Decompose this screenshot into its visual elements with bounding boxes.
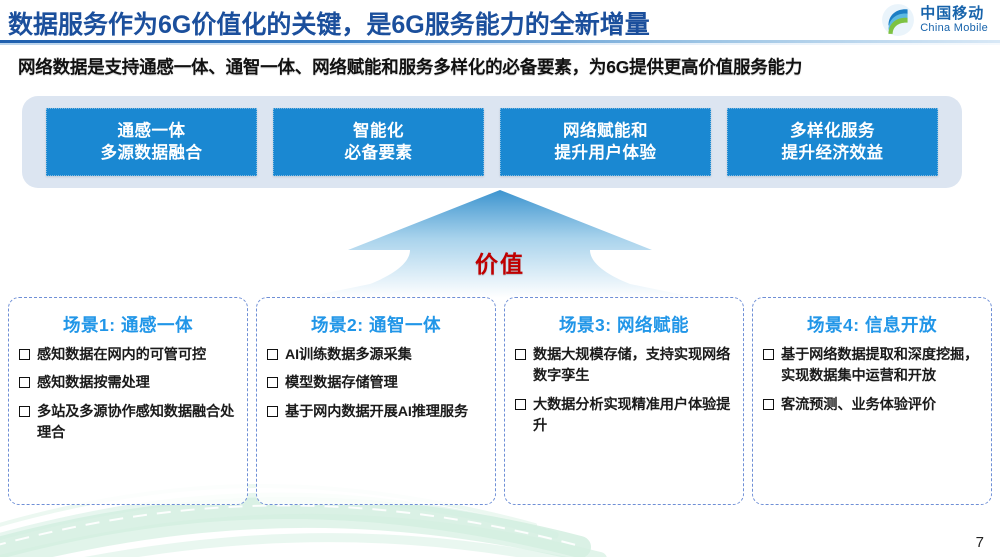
scenario-4-bullets: 基于网络数据提取和深度挖掘，实现数据集中运营和开放 客流预测、业务体验评价 [763,345,981,416]
scenario-2-bullets: AI训练数据多源采集 模型数据存储管理 基于网内数据开展AI推理服务 [267,345,485,423]
scenario-cards: 场景1: 通感一体 感知数据在网内的可管可控 感知数据按需处理 多站及多源协作感… [8,297,992,505]
checkbox-square-icon [19,406,30,417]
bullet-text: 客流预测、业务体验评价 [781,395,981,416]
brand-logo: 中国移动 China Mobile [881,3,988,37]
list-item: 感知数据在网内的可管可控 [19,345,237,366]
up-arrow-icon [300,188,700,298]
pillar-3-line2: 提升用户体验 [555,142,657,164]
pillar-2-line1: 智能化 [353,120,404,142]
slide-subtitle: 网络数据是支持通感一体、通智一体、网络赋能和服务多样化的必备要素，为6G提供更高… [18,54,988,79]
pillars-panel: 通感一体 多源数据融合 智能化 必备要素 网络赋能和 提升用户体验 多样化服务 … [22,96,962,188]
bullet-text: 基于网内数据开展AI推理服务 [285,402,485,423]
logo-title-cn: 中国移动 [920,6,988,21]
list-item: 感知数据按需处理 [19,373,237,394]
list-item: 数据大规模存储，支持实现网络数字孪生 [515,345,733,388]
pillar-1-line1: 通感一体 [118,120,186,142]
slide-root: 数据服务作为6G价值化的关键，是6G服务能力的全新增量 中国移动 China M… [0,0,1000,557]
pillar-card-3[interactable]: 网络赋能和 提升用户体验 [500,108,711,176]
scenario-3-title: 场景3: 网络赋能 [515,312,733,337]
scenario-4-title: 场景4: 信息开放 [763,312,981,337]
checkbox-square-icon [267,377,278,388]
bullet-text: 大数据分析实现精准用户体验提升 [533,395,733,438]
list-item: 基于网内数据开展AI推理服务 [267,402,485,423]
scenario-1-title: 场景1: 通感一体 [19,312,237,337]
pillar-card-1[interactable]: 通感一体 多源数据融合 [46,108,257,176]
list-item: 大数据分析实现精准用户体验提升 [515,395,733,438]
scenario-3-bullets: 数据大规模存储，支持实现网络数字孪生 大数据分析实现精准用户体验提升 [515,345,733,437]
title-divider-secondary [0,43,1000,45]
page-title: 数据服务作为6G价值化的关键，是6G服务能力的全新增量 [8,5,650,41]
checkbox-square-icon [515,349,526,360]
pillar-2-line2: 必备要素 [345,142,413,164]
china-mobile-logo-icon [881,3,915,37]
pillar-1-line2: 多源数据融合 [101,142,203,164]
scenario-2-title: 场景2: 通智一体 [267,312,485,337]
pillar-card-4[interactable]: 多样化服务 提升经济效益 [727,108,938,176]
pillar-3-line1: 网络赋能和 [563,120,648,142]
scenario-card-1[interactable]: 场景1: 通感一体 感知数据在网内的可管可控 感知数据按需处理 多站及多源协作感… [8,297,248,505]
checkbox-square-icon [763,399,774,410]
bullet-text: AI训练数据多源采集 [285,345,485,366]
list-item: 多站及多源协作感知数据融合处理合 [19,402,237,445]
checkbox-square-icon [763,349,774,360]
slide-header: 数据服务作为6G价值化的关键，是6G服务能力的全新增量 中国移动 China M… [0,0,1000,46]
scenario-card-3[interactable]: 场景3: 网络赋能 数据大规模存储，支持实现网络数字孪生 大数据分析实现精准用户… [504,297,744,505]
logo-text-block: 中国移动 China Mobile [920,6,988,34]
bullet-text: 模型数据存储管理 [285,373,485,394]
checkbox-square-icon [267,349,278,360]
bullet-text: 基于网络数据提取和深度挖掘，实现数据集中运营和开放 [781,345,981,388]
bullet-text: 感知数据在网内的可管可控 [37,345,237,366]
list-item: AI训练数据多源采集 [267,345,485,366]
pillar-4-line2: 提升经济效益 [782,142,884,164]
scenario-1-bullets: 感知数据在网内的可管可控 感知数据按需处理 多站及多源协作感知数据融合处理合 [19,345,237,444]
checkbox-square-icon [19,349,30,360]
pillar-4-line1: 多样化服务 [790,120,875,142]
list-item: 基于网络数据提取和深度挖掘，实现数据集中运营和开放 [763,345,981,388]
page-number: 7 [976,534,984,551]
bullet-text: 多站及多源协作感知数据融合处理合 [37,402,237,445]
list-item: 客流预测、业务体验评价 [763,395,981,416]
scenario-card-2[interactable]: 场景2: 通智一体 AI训练数据多源采集 模型数据存储管理 基于网内数据开展AI… [256,297,496,505]
pillar-card-2[interactable]: 智能化 必备要素 [273,108,484,176]
bullet-text: 数据大规模存储，支持实现网络数字孪生 [533,345,733,388]
value-label: 价值 [0,245,1000,279]
checkbox-square-icon [267,406,278,417]
checkbox-square-icon [19,377,30,388]
scenario-card-4[interactable]: 场景4: 信息开放 基于网络数据提取和深度挖掘，实现数据集中运营和开放 客流预测… [752,297,992,505]
checkbox-square-icon [515,399,526,410]
list-item: 模型数据存储管理 [267,373,485,394]
value-arrow-container [300,188,700,298]
bullet-text: 感知数据按需处理 [37,373,237,394]
logo-title-en: China Mobile [920,23,988,34]
